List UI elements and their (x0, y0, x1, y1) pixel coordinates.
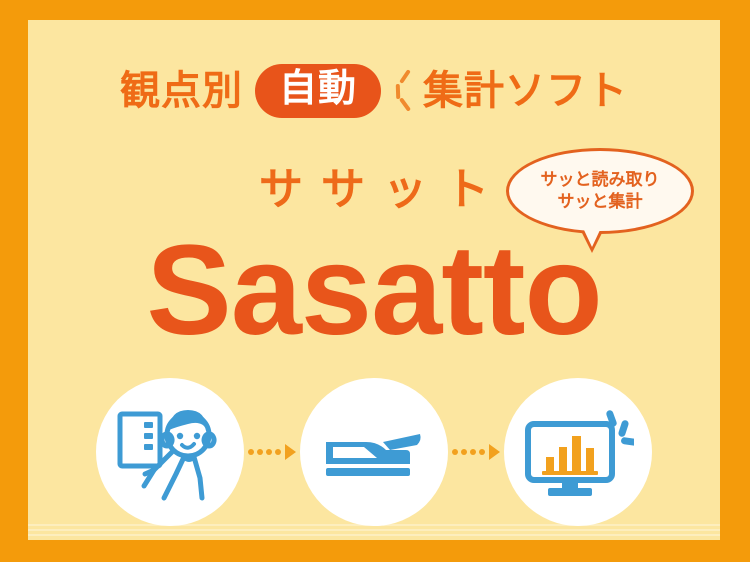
panel-stripe (28, 529, 720, 531)
headline-row: 観点別 自動 集計ソフト (28, 64, 720, 118)
speech-bubble: サッと読み取り サッと集計 (506, 148, 694, 234)
product-wordmark: Sasatto (28, 227, 720, 355)
dotted-arrow-right-icon (448, 442, 504, 462)
sheet-feed-scanner-icon (320, 416, 428, 488)
auto-badge: 自動 (255, 64, 381, 118)
headline-right-text: 集計ソフト (423, 71, 628, 111)
flow-step-2 (300, 378, 448, 526)
inner-panel: 観点別 自動 集計ソフト ササット Sasatto サッと読み取り サッと集計 (28, 20, 720, 540)
promo-banner: 観点別 自動 集計ソフト ササット Sasatto サッと読み取り サッと集計 (0, 0, 750, 562)
flow-step-1 (96, 378, 244, 526)
speech-bubble-line-2: サッと集計 (558, 191, 643, 213)
speech-bubble-tail (581, 231, 603, 253)
dotted-arrow-right-icon (244, 442, 300, 462)
person-with-answer-sheet-icon (114, 400, 226, 504)
process-flow (28, 378, 720, 526)
flow-step-3 (504, 378, 652, 526)
headline-left-text: 観点別 (120, 71, 243, 111)
monitor-bar-chart-icon (522, 402, 634, 502)
sparkle-lines-icon (393, 68, 419, 114)
speech-bubble-text: サッと読み取り サッと集計 (509, 151, 691, 231)
speech-bubble-line-1: サッと読み取り (541, 169, 660, 191)
panel-stripe (28, 534, 720, 536)
